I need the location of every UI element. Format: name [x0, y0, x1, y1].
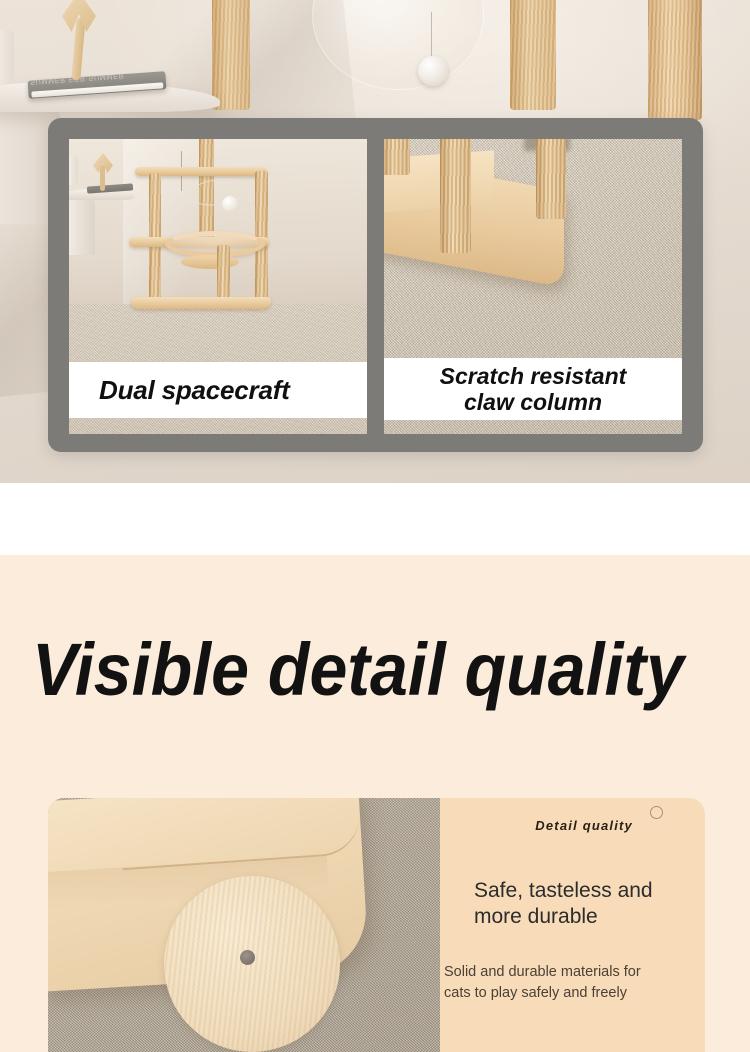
- panel-right-sisal-post-a: [384, 139, 410, 175]
- dangle-string: [431, 12, 432, 60]
- photo-panes: Dual spacecraft Scratch resistant: [69, 139, 682, 434]
- panel-left-table-leg: [69, 197, 95, 255]
- decor-vase: [0, 30, 14, 84]
- panel-left-vase: [69, 155, 78, 185]
- caption-strip-left: Dual spacecraft: [69, 362, 367, 418]
- detail-body-text: Solid and durable materials for cats to …: [444, 962, 696, 1003]
- sisal-post-right: [648, 0, 702, 120]
- caption-text-left: Dual spacecraft: [99, 375, 290, 406]
- circle-outline-icon: [650, 806, 663, 819]
- cat-tree-post-lower: [217, 245, 230, 305]
- detail-title-line-1: Safe, tasteless and: [474, 879, 653, 902]
- detail-title: Safe, tasteless and more durable: [474, 878, 696, 930]
- sisal-post-center: [212, 0, 250, 110]
- cat-tree-base-board: [131, 297, 271, 309]
- photo-panel-right[interactable]: Scratch resistant claw column: [384, 139, 682, 434]
- cat-tree-step-disc: [181, 255, 239, 269]
- cat-tree-bowl-perch: [165, 231, 265, 257]
- panel-left-figurine: [93, 153, 115, 191]
- detail-round-disc: [164, 876, 340, 1052]
- top-room-scene-section: SUMMER FOR SUMMER: [0, 0, 750, 483]
- caption-right-line-2: claw column: [464, 389, 602, 415]
- caption-right-line-1: Scratch resistant: [440, 363, 627, 389]
- panel-right-sisal-post-c: [536, 139, 566, 219]
- dangle-ball-toy: [418, 56, 448, 86]
- detail-eyebrow-label: Detail quality: [535, 818, 633, 833]
- section-headline: Visible detail quality: [32, 633, 676, 707]
- cat-tree-pompom-ball: [222, 196, 238, 212]
- detail-quality-card: Detail quality Safe, tasteless and more …: [48, 798, 705, 1052]
- detail-quality-section: Visible detail quality Detail quality Sa…: [0, 555, 750, 1052]
- detail-text-card: Detail quality Safe, tasteless and more …: [440, 798, 705, 1052]
- detail-body-line-1: Solid and durable materials for: [444, 964, 641, 980]
- decor-figurine: [62, 0, 100, 88]
- caption-strip-right: Scratch resistant claw column: [384, 358, 682, 420]
- photo-panel-left[interactable]: Dual spacecraft: [69, 139, 367, 434]
- panel-right-sisal-post-b: [440, 139, 471, 253]
- detail-body-line-2: cats to play safely and freely: [444, 985, 627, 1001]
- twin-photo-frame: Dual spacecraft Scratch resistant: [48, 118, 703, 452]
- detail-screw-hole: [240, 950, 255, 965]
- caption-text-right: Scratch resistant claw column: [440, 363, 627, 415]
- detail-photo[interactable]: [48, 798, 440, 1052]
- sisal-post-right-inner: [510, 0, 556, 110]
- product-detail-page: SUMMER FOR SUMMER: [0, 0, 750, 1052]
- detail-title-line-2: more durable: [474, 905, 598, 928]
